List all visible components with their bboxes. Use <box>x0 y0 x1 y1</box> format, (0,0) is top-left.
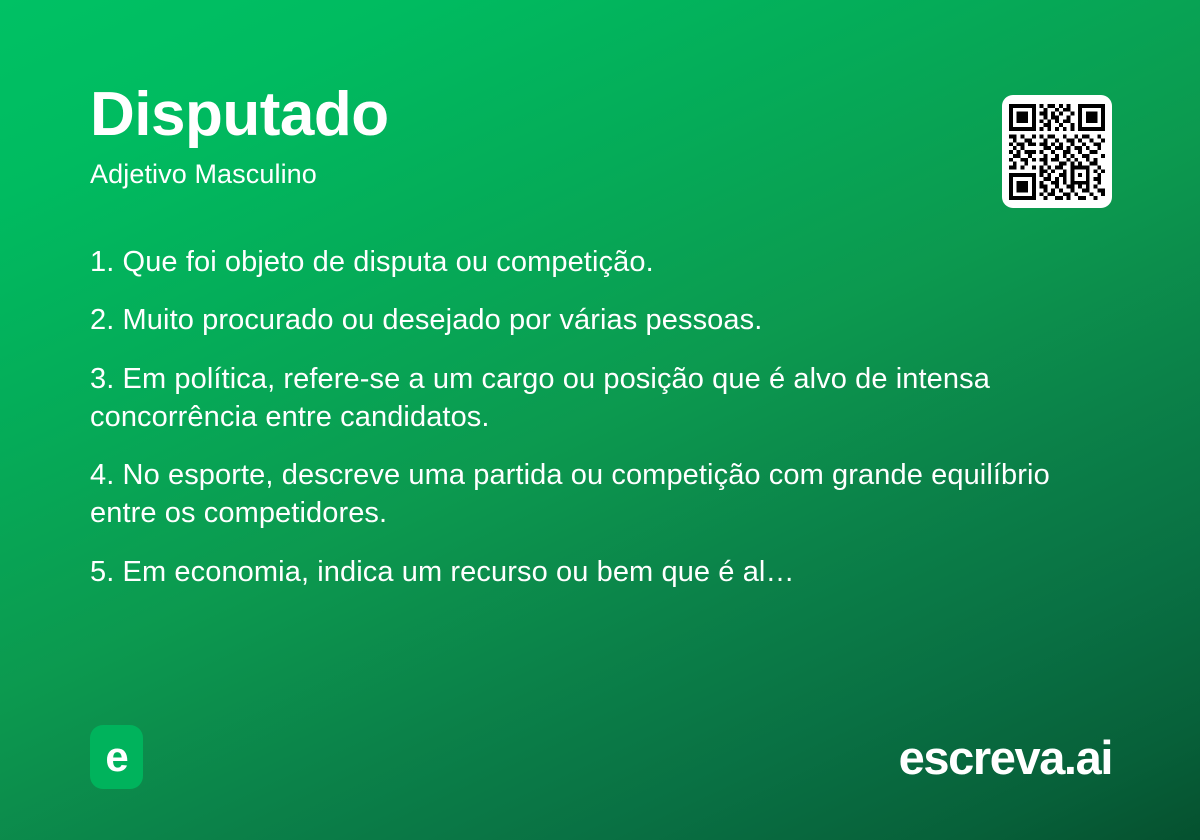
brand-logo: e <box>90 725 143 789</box>
card-footer: e escreva.ai <box>90 724 1112 790</box>
definition-item: 2. Muito procurado ou desejado por vária… <box>90 301 1120 339</box>
brand-wordmark: escreva.ai <box>899 734 1112 781</box>
word-definition-card: Disputado Adjetivo Masculino <box>0 0 1200 840</box>
brand-logo-letter: e <box>105 736 127 778</box>
definition-item: 4. No esporte, descreve uma partida ou c… <box>90 456 1120 533</box>
definition-item: 3. Em política, refere-se a um cargo ou … <box>90 360 1120 437</box>
qr-code-icon <box>1009 104 1105 200</box>
word-class-label: Adjetivo Masculino <box>90 160 1110 190</box>
definition-list: 1. Que foi objeto de disputa ou competiç… <box>90 243 1120 591</box>
qr-code-card[interactable] <box>1002 95 1112 208</box>
definition-item: 1. Que foi objeto de disputa ou competiç… <box>90 243 1120 281</box>
definition-item: 5. Em economia, indica um recurso ou bem… <box>90 553 1120 591</box>
page-title: Disputado <box>90 84 1110 146</box>
card-header: Disputado Adjetivo Masculino <box>90 84 1110 190</box>
